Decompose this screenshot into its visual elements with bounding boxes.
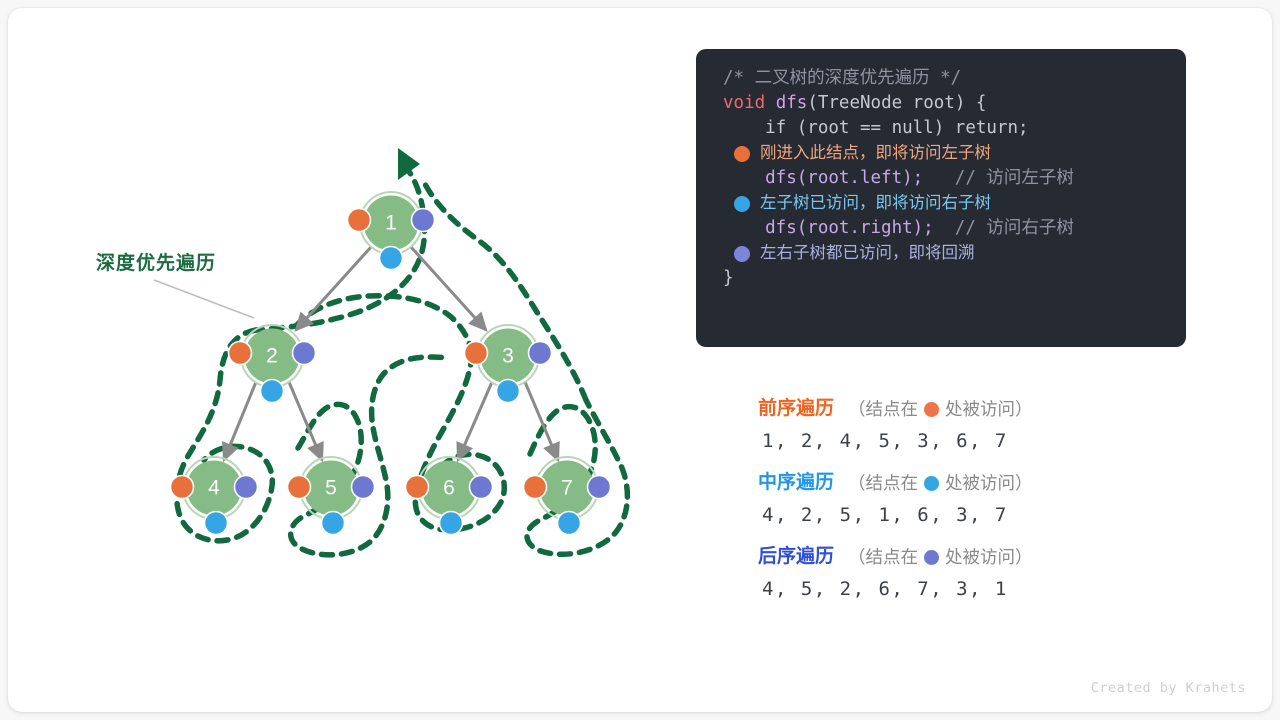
- light-blue-dot-icon: [734, 196, 750, 212]
- node-label: 3: [502, 345, 514, 368]
- code-panel: /* 二叉树的深度优先遍历 */ void dfs(TreeNode root)…: [696, 49, 1186, 347]
- preorder-note-suffix: 处被访问）: [945, 394, 1033, 424]
- postorder-dot-3: [529, 342, 552, 365]
- code-line-null-check: if (root == null) return;: [696, 116, 1186, 141]
- preorder-heading: 前序遍历 （结点在 处被访问）: [758, 394, 1188, 424]
- preorder-title: 前序遍历: [758, 394, 834, 424]
- preorder-sequence: 1, 2, 4, 5, 3, 6, 7: [762, 430, 1188, 452]
- label-leader-line: [154, 280, 254, 318]
- annotation-preorder: 刚进入此结点，即将访问左子树: [696, 141, 1186, 166]
- code-line-signature: void dfs(TreeNode root) {: [696, 91, 1186, 116]
- annotation-postorder-text: 左右子树都已访问，即将回溯: [760, 241, 975, 266]
- code-line-dfs-right: dfs(root.right); // 访问右子树: [696, 216, 1186, 241]
- preorder-dot-6: [406, 476, 429, 499]
- inorder-dot-1: [380, 247, 403, 270]
- code-line-comment: /* 二叉树的深度优先遍历 */: [696, 66, 1186, 91]
- postorder-dot-6: [470, 476, 493, 499]
- light-blue-dot-icon: [924, 476, 939, 491]
- result-block-postorder: 后序遍历 （结点在 处被访问） 4, 5, 2, 6, 7, 3, 1: [758, 542, 1188, 600]
- purple-dot-icon: [734, 246, 750, 262]
- annotation-preorder-text: 刚进入此结点，即将访问左子树: [760, 141, 991, 166]
- binary-tree-diagram: 1 2 3: [8, 8, 688, 712]
- tree-node-3[interactable]: 3: [465, 325, 552, 403]
- preorder-note-prefix: （结点在: [848, 394, 918, 424]
- tree-node-5[interactable]: 5: [288, 457, 375, 535]
- postorder-dot-5: [352, 476, 375, 499]
- annotation-inorder-text: 左子树已访问，即将访问右子树: [760, 191, 991, 216]
- credit-text: Created by Krahets: [1091, 680, 1246, 696]
- postorder-dot-7: [588, 476, 611, 499]
- traversal-results: 前序遍历 （结点在 处被访问） 1, 2, 4, 5, 3, 6, 7 中序遍历…: [758, 394, 1188, 616]
- inorder-note-prefix: （结点在: [848, 468, 918, 498]
- postorder-note: （结点在 处被访问）: [848, 542, 1033, 572]
- orange-dot-icon: [734, 146, 750, 162]
- code-line-dfs-left: dfs(root.left); // 访问左子树: [696, 166, 1186, 191]
- node-label: 6: [443, 477, 455, 500]
- postorder-heading: 后序遍历 （结点在 处被访问）: [758, 542, 1188, 572]
- dfs-label: 深度优先遍历: [96, 248, 216, 275]
- keyword-void: void: [723, 93, 765, 113]
- postorder-note-prefix: （结点在: [848, 542, 918, 572]
- inorder-dot-5: [322, 512, 345, 535]
- inorder-dot-7: [558, 512, 581, 535]
- inorder-title: 中序遍历: [758, 468, 834, 498]
- inorder-dot-6: [440, 512, 463, 535]
- dfs-right-call: dfs(root.right);: [723, 218, 934, 238]
- postorder-dot-2: [293, 342, 316, 365]
- preorder-dot-4: [171, 476, 194, 499]
- dfs-left-call: dfs(root.left);: [723, 168, 923, 188]
- inorder-sequence: 4, 2, 5, 1, 6, 3, 7: [762, 504, 1188, 526]
- postorder-dot-1: [412, 209, 435, 232]
- postorder-title: 后序遍历: [758, 542, 834, 572]
- preorder-dot-2: [229, 342, 252, 365]
- tree-node-2[interactable]: 2: [229, 325, 316, 403]
- purple-dot-icon: [924, 550, 939, 565]
- dfs-right-comment: // 访问右子树: [934, 218, 1074, 238]
- preorder-dot-3: [465, 342, 488, 365]
- inorder-dot-2: [261, 380, 284, 403]
- main-card: 1 2 3: [8, 8, 1272, 712]
- tree-nodes: 1 2 3: [171, 192, 611, 535]
- inorder-heading: 中序遍历 （结点在 处被访问）: [758, 468, 1188, 498]
- node-label: 2: [266, 345, 278, 368]
- edge-2-5: [289, 382, 322, 460]
- node-label: 5: [325, 477, 337, 500]
- tree-svg: 1 2 3: [8, 8, 688, 712]
- function-name-dfs: dfs: [765, 93, 807, 113]
- code-line-close-brace: }: [696, 266, 1186, 291]
- inorder-note-suffix: 处被访问）: [945, 468, 1033, 498]
- inorder-dot-4: [205, 512, 228, 535]
- annotation-inorder: 左子树已访问，即将访问右子树: [696, 191, 1186, 216]
- preorder-note: （结点在 处被访问）: [848, 394, 1033, 424]
- preorder-dot-5: [288, 476, 311, 499]
- annotation-postorder: 左右子树都已访问，即将回溯: [696, 241, 1186, 266]
- orange-dot-icon: [924, 402, 939, 417]
- inorder-note: （结点在 处被访问）: [848, 468, 1033, 498]
- result-block-inorder: 中序遍历 （结点在 处被访问） 4, 2, 5, 1, 6, 3, 7: [758, 468, 1188, 526]
- dfs-left-comment: // 访问左子树: [923, 168, 1074, 188]
- node-label: 4: [208, 477, 220, 500]
- postorder-note-suffix: 处被访问）: [945, 542, 1033, 572]
- postorder-dot-4: [235, 476, 258, 499]
- result-block-preorder: 前序遍历 （结点在 处被访问） 1, 2, 4, 5, 3, 6, 7: [758, 394, 1188, 452]
- node-label: 1: [385, 212, 397, 235]
- preorder-dot-7: [524, 476, 547, 499]
- signature-rest: (TreeNode root) {: [807, 93, 986, 113]
- inorder-dot-3: [497, 380, 520, 403]
- node-label: 7: [561, 477, 573, 500]
- postorder-sequence: 4, 5, 2, 6, 7, 3, 1: [762, 578, 1188, 600]
- preorder-dot-1: [348, 209, 371, 232]
